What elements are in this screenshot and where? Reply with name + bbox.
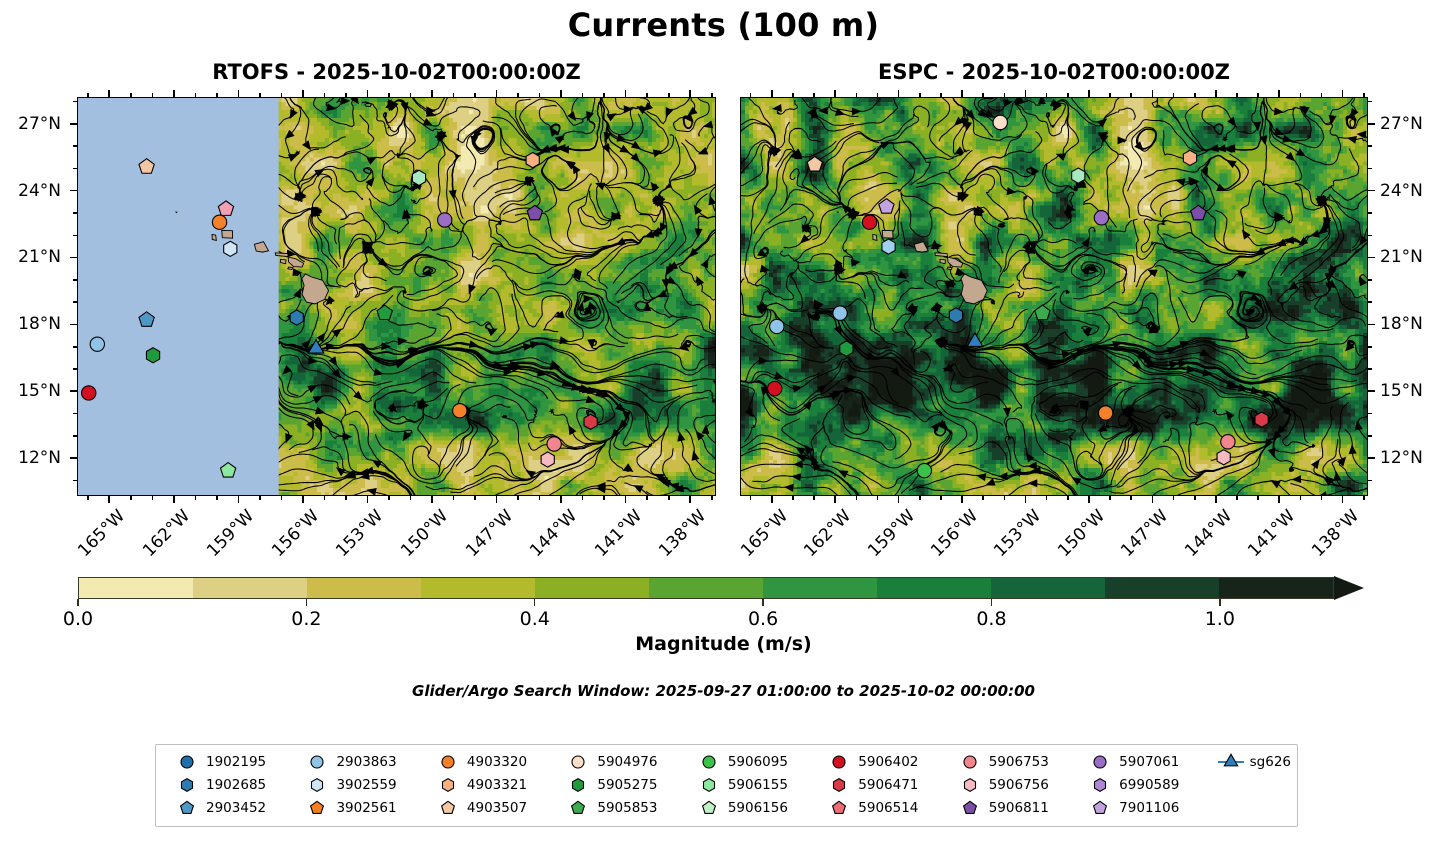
ytick-minor [1368,145,1372,147]
legend-item-5906811[interactable]: 5906811 [945,798,1075,818]
legend-marker-circle-icon [433,753,463,771]
marker-2903863b [833,306,847,320]
legend-marker-hexagon-icon [694,776,724,794]
xtick-minor [130,496,132,500]
xtick [1342,496,1344,503]
ytick-minor [1368,435,1372,437]
legend-marker-hexagon-icon [824,776,854,794]
xtick [108,496,110,503]
xtick [771,496,773,503]
magnitude-field [741,98,1367,496]
marker-4903320 [1098,406,1112,420]
marker-5906155 [1072,168,1085,183]
legend-item-7901106[interactable]: 7901106 [1075,798,1205,818]
colorbar-label: Magnitude (m/s) [0,633,1447,655]
marker-5905275 [146,348,159,363]
ytick-minor [1368,301,1372,303]
ytick-label: 12°N [1380,448,1447,468]
xtick-minor [1130,93,1132,97]
legend-marker-circle-icon [302,753,332,771]
colorbar-tick [991,599,992,606]
ytick [70,324,77,326]
xtick-top [898,90,900,97]
xtick-minor [388,496,390,500]
ytick-minor [73,346,77,348]
ytick-minor [73,101,77,103]
xtick-top [173,90,175,97]
legend-grid: 1902195190268529034522903863390255939025… [162,752,1291,818]
legend-item-5906156[interactable]: 5906156 [684,798,814,818]
xtick-minor [1321,93,1323,97]
xtick-top [1025,90,1027,97]
legend-marker-circle-icon [694,753,724,771]
legend-item-1902195[interactable]: 1902195 [162,752,292,772]
legend-label: 2903863 [332,754,396,770]
marker-4903320 [212,215,226,229]
legend-item-1902685[interactable]: 1902685 [162,775,292,795]
marker-4903320b [453,404,467,418]
legend-label: 5906811 [985,800,1049,816]
xtick-label: 138°W [1292,506,1363,577]
xtick [625,496,627,503]
xtick-top [302,90,304,97]
ytick-minor [73,413,77,415]
xtick-minor [517,93,519,97]
legend-marker-pentagon-icon [172,799,202,817]
legend-item-4903507[interactable]: 4903507 [423,798,553,818]
ytick-minor [1368,101,1372,103]
ytick-label: 24°N [1380,181,1447,201]
xtick-minor [474,496,476,500]
xtick-minor [1130,496,1132,500]
xtick-minor [646,93,648,97]
ytick [70,257,77,259]
xtick-minor [324,496,326,500]
marker-5906753 [547,437,561,451]
legend-label: 3902559 [332,777,396,793]
xtick [1215,496,1217,503]
xtick-minor [410,93,412,97]
colorbar-segment-1 [193,578,307,598]
legend-marker-circle-icon [563,753,593,771]
legend-marker-hexagon-icon [563,776,593,794]
xtick-top [834,90,836,97]
legend-label: 5906753 [985,754,1049,770]
xtick-minor [646,496,648,500]
xtick-minor [940,496,942,500]
xtick [1088,496,1090,503]
ytick-minor [73,480,77,482]
legend-label: 5904976 [593,754,657,770]
ytick-minor [73,279,77,281]
legend-item-5906753[interactable]: 5906753 [945,752,1075,772]
legend-label: 3902561 [332,800,396,816]
xtick-minor [87,93,89,97]
xtick-label: 144°W [511,506,582,577]
ytick-label: 18°N [1380,314,1447,334]
xtick-minor [281,93,283,97]
colorbar-tick-label: 0.4 [520,608,550,630]
xtick-minor [919,93,921,97]
xtick-minor [668,496,670,500]
marker-2903863 [90,337,104,351]
xtick-minor [195,496,197,500]
legend-item-5906514[interactable]: 5906514 [814,798,944,818]
xtick [834,496,836,503]
xtick [173,496,175,503]
xtick-minor [453,496,455,500]
xtick-label: 141°W [575,506,646,577]
xtick-minor [1004,496,1006,500]
legend-label: 5905853 [593,800,657,816]
ytick [1368,457,1375,459]
xtick-minor [281,496,283,500]
legend-marker-hexagon-icon [955,776,985,794]
ytick-minor [73,212,77,214]
legend-marker-circle-icon [1085,753,1115,771]
ytick [70,123,77,125]
xtick-minor [1300,496,1302,500]
xtick-minor [1109,93,1111,97]
xtick-minor [517,496,519,500]
colorbar-segment-3 [421,578,535,598]
legend-label: 5906756 [985,777,1049,793]
xtick-minor [813,93,815,97]
xtick-minor [87,496,89,500]
marker-3902559 [882,239,895,254]
ytick-minor [1368,480,1372,482]
colorbar[interactable]: 0.00.20.40.60.81.0 [78,577,1364,599]
xtick-minor [582,496,584,500]
xtick-top [625,90,627,97]
xtick-top [1215,90,1217,97]
ytick-minor [73,235,77,237]
xtick-minor [195,93,197,97]
marker-5906402 [82,386,96,400]
xtick-top [367,90,369,97]
xtick-minor [982,496,984,500]
legend-marker-pentagon-icon [694,799,724,817]
legend-item-2903863[interactable]: 2903863 [292,752,422,772]
colorbar-segment-9 [1105,578,1219,598]
xtick-top [431,90,433,97]
xtick-minor [259,496,261,500]
xtick-minor [982,93,984,97]
xtick-minor [388,93,390,97]
figure-root: Currents (100 m) RTOFS - 2025-10-02T00:0… [0,0,1447,863]
legend-label: 5906156 [724,800,788,816]
xtick-label: 141°W [1229,506,1300,577]
colorbar-segment-0 [79,578,193,598]
ytick-label: 27°N [0,114,61,134]
legend-marker-triangle-line-icon [1216,753,1246,771]
legend-spacer [1206,798,1291,818]
ytick-minor [1368,368,1372,370]
ytick [70,457,77,459]
ytick-minor [1368,346,1372,348]
legend-label: 5907061 [1115,754,1179,770]
marker-5906402 [862,215,876,229]
xtick-minor [750,93,752,97]
marker-5906155 [412,170,425,185]
legend-marker-hexagon-icon [172,776,202,794]
legend-label: 5905275 [593,777,657,793]
colorbar-segment-2 [307,578,421,598]
legend-item-6990589[interactable]: 6990589 [1075,775,1205,795]
xtick-minor [216,496,218,500]
marker-5904976 [993,115,1007,129]
xtick-minor [603,93,605,97]
marker-2903863 [770,319,784,333]
map-panel-espc[interactable] [740,97,1368,496]
legend-item-5907061[interactable]: 5907061 [1075,752,1205,772]
ytick-minor [73,301,77,303]
marker-1902685 [290,310,303,325]
legend-marker-pentagon-icon [955,799,985,817]
xtick-minor [1300,93,1302,97]
xtick-minor [603,496,605,500]
xtick-minor [856,496,858,500]
legend-marker-hexagon-icon [433,776,463,794]
xtick-minor [711,496,713,500]
xtick-minor [1109,496,1111,500]
marker-5906402b [768,381,782,395]
xtick [689,496,691,503]
ytick [1368,390,1375,392]
xtick [496,496,498,503]
xtick-label: 150°W [1038,506,1109,577]
xtick [1278,496,1280,503]
ytick-minor [1368,168,1372,170]
legend-marker-pentagon-icon [1085,799,1115,817]
ytick [1368,123,1375,125]
xtick [238,496,240,503]
marker-5907061 [1094,211,1108,225]
ytick-minor [1368,235,1372,237]
colorbar-gradient [78,577,1334,599]
xtick-minor [1173,496,1175,500]
legend-marker-pentagon-icon [824,799,854,817]
legend-marker-circle-icon [955,753,985,771]
legend-label: 4903507 [463,800,527,816]
legend-label: 5906514 [854,800,918,816]
marker-5906756 [1217,450,1230,465]
legend-spacer [1206,775,1291,795]
colorbar-segment-8 [991,578,1105,598]
xtick [1152,496,1154,503]
legend-marker-pentagon-icon [433,799,463,817]
xtick-label: 153°W [317,506,388,577]
xtick [961,496,963,503]
ytick-label: 21°N [0,247,61,267]
legend-item-sg626[interactable]: sg626 [1206,752,1291,772]
xtick-top [496,90,498,97]
no-data-region [78,98,279,495]
ytick-minor [1368,279,1372,281]
colorbar-tick [534,599,535,606]
ytick-minor [73,168,77,170]
ytick [70,390,77,392]
colorbar-tick [77,599,78,606]
xtick-top [1278,90,1280,97]
xtick-top [1152,90,1154,97]
xtick-label: 159°W [848,506,919,577]
marker-5906756 [541,452,554,467]
xtick-top [689,90,691,97]
xtick-label: 150°W [381,506,452,577]
xtick-minor [1363,93,1365,97]
legend-item-3902559[interactable]: 3902559 [292,775,422,795]
xtick-label: 156°W [252,506,323,577]
ytick-label: 24°N [0,181,61,201]
ytick-minor [73,435,77,437]
ytick-label: 15°N [0,381,61,401]
colorbar-segment-7 [877,578,991,598]
xtick-minor [1067,496,1069,500]
xtick [1025,496,1027,503]
legend-item-5905275[interactable]: 5905275 [553,775,683,795]
legend-item-5906471[interactable]: 5906471 [814,775,944,795]
marker-5906095 [917,463,931,477]
ytick-label: 15°N [1380,381,1447,401]
xtick-minor [1363,496,1365,500]
marker-5906471 [584,414,597,429]
xtick-label: 153°W [975,506,1046,577]
currents-map-espc [741,98,1367,495]
legend-item-4903320[interactable]: 4903320 [423,752,553,772]
ytick-minor [73,145,77,147]
ytick-label: 21°N [1380,247,1447,267]
xtick-minor [750,496,752,500]
legend-label: 7901106 [1115,800,1179,816]
legend-marker-circle-icon [824,753,854,771]
xtick-minor [582,93,584,97]
xtick-minor [711,93,713,97]
xtick-minor [152,93,154,97]
legend-item-4903321[interactable]: 4903321 [423,775,553,795]
legend-label: 4903320 [463,754,527,770]
ytick [1368,257,1375,259]
xtick [898,496,900,503]
marker-5906753 [1221,435,1235,449]
page-title: Currents (100 m) [0,6,1447,44]
colorbar-tick [306,599,307,606]
legend-item-5904976[interactable]: 5904976 [553,752,683,772]
xtick-label: 162°W [785,506,856,577]
panel-title-rtofs: RTOFS - 2025-10-02T00:00:00Z [77,60,716,84]
xtick-label: 156°W [911,506,982,577]
legend-marker-hexagon-icon [302,776,332,794]
ytick [1368,190,1375,192]
xtick-minor [539,496,541,500]
marker-5905275 [840,341,853,356]
legend-marker-hexagon-icon [1085,776,1115,794]
xtick-minor [453,93,455,97]
colorbar-tick-label: 0.2 [291,608,321,630]
legend-label: 5906095 [724,754,788,770]
xtick-minor [152,496,154,500]
xtick-minor [410,496,412,500]
legend-marker-pentagon-icon [302,799,332,817]
ytick [1368,324,1375,326]
legend-item-5906095[interactable]: 5906095 [684,752,814,772]
xtick-minor [1046,93,1048,97]
xtick-minor [345,93,347,97]
legend-item-5905853[interactable]: 5905853 [553,798,683,818]
colorbar-segment-4 [535,578,649,598]
xtick-top [560,90,562,97]
xtick-minor [216,93,218,97]
xtick-label: 144°W [1165,506,1236,577]
xtick-label: 159°W [188,506,259,577]
marker-4903321 [1183,150,1196,165]
marker-5907061 [438,213,452,227]
xtick-top [1342,90,1344,97]
xtick-top [238,90,240,97]
xtick-minor [940,93,942,97]
xtick-minor [1257,93,1259,97]
currents-map-rtofs [78,98,715,495]
legend-item-3902561[interactable]: 3902561 [292,798,422,818]
marker-5906471 [1255,412,1268,427]
xtick-minor [324,93,326,97]
colorbar-tick-label: 1.0 [1205,608,1235,630]
map-panel-rtofs[interactable] [77,97,716,496]
colorbar-tick-label: 0.8 [976,608,1006,630]
xtick-minor [130,93,132,97]
ytick-minor [1368,212,1372,214]
ytick-label: 27°N [1380,114,1447,134]
xtick-top [1088,90,1090,97]
ytick-label: 12°N [0,448,61,468]
legend-label: 5906471 [854,777,918,793]
colorbar-tick [1219,599,1220,606]
xtick-minor [877,496,879,500]
legend-item-5906155[interactable]: 5906155 [684,775,814,795]
colorbar-tick-label: 0.6 [748,608,778,630]
colorbar-segment-6 [763,578,877,598]
xtick-label: 147°W [1102,506,1173,577]
legend-label: 4903321 [463,777,527,793]
ytick-minor [1368,413,1372,415]
xtick-minor [1194,93,1196,97]
legend-item-5906756[interactable]: 5906756 [945,775,1075,795]
legend-marker-pentagon-icon [563,799,593,817]
ytick-label: 18°N [0,314,61,334]
search-window-caption: Glider/Argo Search Window: 2025-09-27 01… [0,682,1447,700]
ytick [70,190,77,192]
legend-item-5906402[interactable]: 5906402 [814,752,944,772]
xtick [302,496,304,503]
xtick-minor [345,496,347,500]
xtick-minor [1194,496,1196,500]
xtick-minor [1236,93,1238,97]
legend-label: 2903452 [202,800,266,816]
marker-4903321 [526,153,539,168]
xtick-minor [259,93,261,97]
xtick [367,496,369,503]
legend-label: 1902195 [202,754,266,770]
xtick-minor [1046,496,1048,500]
xtick-top [108,90,110,97]
legend-item-2903452[interactable]: 2903452 [162,798,292,818]
legend-label: 1902685 [202,777,266,793]
xtick-minor [1236,496,1238,500]
xtick-minor [877,93,879,97]
ytick-minor [73,368,77,370]
xtick [431,496,433,503]
xtick-label: 162°W [123,506,194,577]
